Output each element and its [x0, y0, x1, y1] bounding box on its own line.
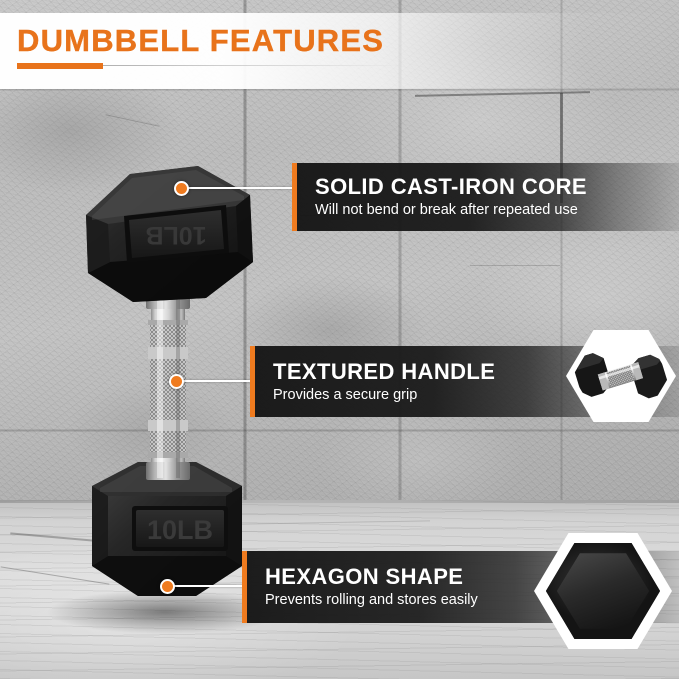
- header-thin-rule: [103, 65, 403, 66]
- callout-subtitle: Will not bend or break after repeated us…: [315, 203, 679, 218]
- inset-hexagon-image: [542, 540, 663, 642]
- marker-dot-hexagon[interactable]: [160, 579, 175, 594]
- floor-wall-junction: [0, 500, 679, 503]
- header-accent-rule: [17, 63, 103, 69]
- page-title: DUMBBELL FEATURES: [17, 23, 384, 59]
- callout-solid-cast-iron-core[interactable]: SOLID CAST-IRON CORE Will not bend or br…: [292, 163, 679, 231]
- leader-line-handle: [183, 380, 252, 382]
- leader-line-hexagon: [174, 585, 244, 587]
- inset-handle-image: [573, 336, 670, 417]
- marker-dot-core[interactable]: [174, 181, 189, 196]
- callout-title: SOLID CAST-IRON CORE: [315, 175, 679, 198]
- marker-dot-handle[interactable]: [169, 374, 184, 389]
- poster-canvas: 10LB: [0, 0, 679, 679]
- wall-crack: [470, 265, 560, 266]
- leader-line-core: [188, 187, 294, 189]
